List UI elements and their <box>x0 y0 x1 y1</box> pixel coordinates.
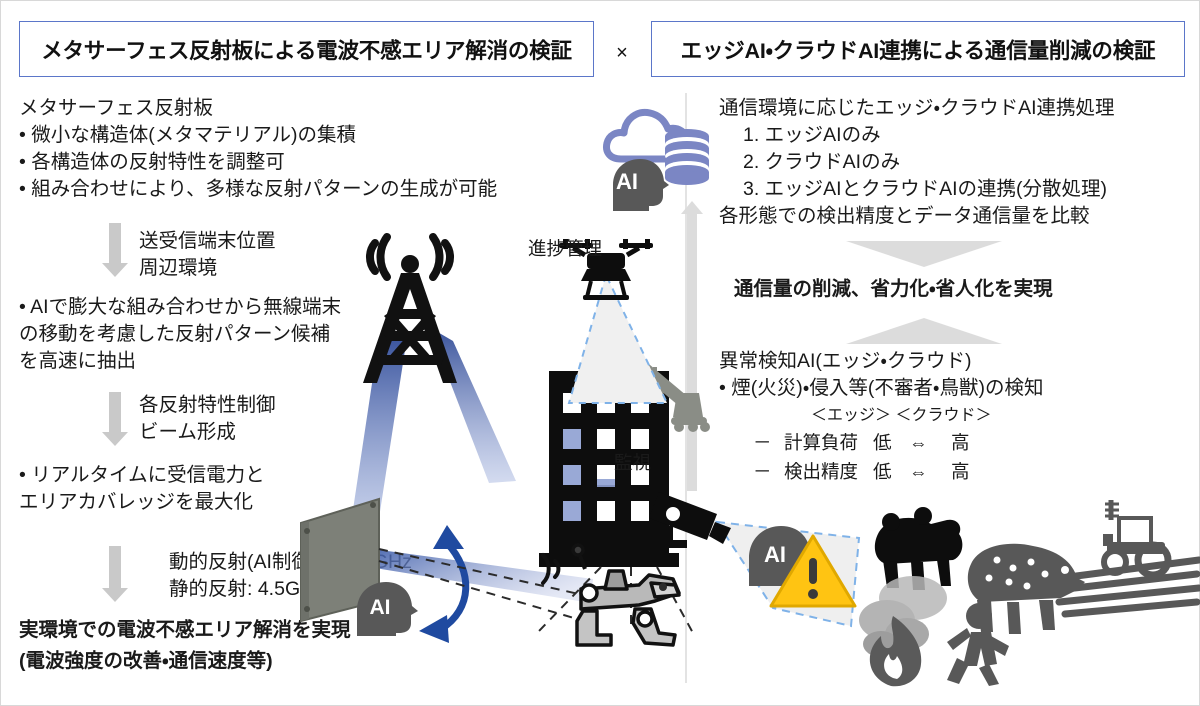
ai-head-label-monitor: AI <box>764 542 786 567</box>
right-detect-title: 異常検知AI(エッジ・クラウド) <box>719 349 972 375</box>
left-flow-arrow-3 <box>102 546 128 602</box>
right-flow-arrow-up <box>846 318 1002 344</box>
right-compare-row-0-edge: 低 <box>873 431 892 456</box>
right-compare-header: ＜エッジ＞ ＜クラウド＞ <box>811 405 991 426</box>
right-compare-row-1-arrow: ⇔ <box>909 460 928 485</box>
steering-arrowhead-up <box>433 525 464 549</box>
security-camera-icon <box>649 492 731 548</box>
diagram-canvas: メタサーフェス反射板による電波不感エリア解消の検証 × エッジAI・クラウドAI… <box>0 0 1200 706</box>
ai-head-icon-panel: AI <box>357 582 418 636</box>
left-step2-bullet-line2: エリアカバレッジを最大化 <box>19 490 253 516</box>
radio-tower-icon <box>363 237 457 383</box>
drone-scan-cone <box>569 275 667 403</box>
right-intro-title: 通信環境に応じたエッジ・クラウドAI連携処理 <box>719 96 1115 122</box>
left-step2-bullet-line1: • リアルタイムに受信電力と <box>19 463 265 489</box>
right-outcome: 通信量の削減、省力化・省人化を実現 <box>734 277 1053 303</box>
left-step2-label-line2: ビーム形成 <box>139 420 236 446</box>
header-box-right: エッジAI・クラウドAI連携による通信量削減の検証 <box>651 21 1185 77</box>
right-mode-3: 3. エッジAIとクラウドAIの連携(分散処理) <box>743 177 1107 203</box>
left-step1-bullet-line1: • AIで膨大な組み合わせから無線端末 <box>19 295 341 321</box>
left-step1-label-line1: 送受信端末位置 <box>139 229 276 255</box>
left-intro-bullet-2: • 各構造体の反射特性を調整可 <box>19 150 285 176</box>
left-flow-arrow-2 <box>102 392 128 446</box>
right-mode-2: 2. クラウドAIのみ <box>743 150 900 176</box>
header-box-left: メタサーフェス反射板による電波不感エリア解消の検証 <box>19 21 594 77</box>
right-flow-arrow-down <box>846 241 1002 267</box>
left-intro-title: メタサーフェス反射板 <box>19 96 213 122</box>
camera-label: 監視 <box>614 451 651 476</box>
left-step1-bullet-line3: を高速に抽出 <box>19 349 136 375</box>
right-compare-row-0-metric: 計算負荷 <box>784 431 858 456</box>
ai-head-label: AI <box>616 169 638 194</box>
right-compare-row-0-arrow: ⇔ <box>909 431 928 456</box>
left-intro-bullet-1: • 微小な構造体(メタマテリアル)の集積 <box>19 123 356 149</box>
left-flow-arrow-1 <box>102 223 128 277</box>
steering-arrowhead-down <box>419 615 449 643</box>
right-compare-row-1-dash: － <box>753 460 772 485</box>
field-rows-icon <box>1057 560 1199 614</box>
right-compare-row-0-dash: － <box>753 431 772 456</box>
right-mode-1: 1. エッジAIのみ <box>743 123 881 149</box>
cloud-ai-illustration: AI <box>599 93 719 211</box>
database-icon <box>665 129 709 185</box>
left-step1-bullet-line2: の移動を考慮した反射パターン候補 <box>19 322 330 348</box>
left-step1-label-line2: 周辺環境 <box>139 256 217 282</box>
left-conclusion-line2: (電波強度の改善・通信速度等) <box>19 649 273 675</box>
drone-label: 進捗管理 <box>528 237 602 262</box>
right-compare-row-1-metric: 検出精度 <box>784 460 858 485</box>
left-step2-label-line1: 各反射特性制御 <box>139 393 276 419</box>
ai-head-label-panel: AI <box>370 596 391 619</box>
right-compare-row-1-cloud: 高 <box>951 460 970 485</box>
right-detect-bullet: • 煙(火災)・侵入等(不審者・鳥獣)の検知 <box>719 376 1043 402</box>
left-intro-bullet-3: • 組み合わせにより、多様な反射パターンの生成が可能 <box>19 177 497 203</box>
ai-head-icon: AI <box>613 159 669 211</box>
right-compare-row-1-edge: 低 <box>873 460 892 485</box>
header-title-right: エッジAI・クラウドAI連携による通信量削減の検証 <box>681 34 1156 65</box>
right-compare-line: 各形態での検出精度とデータ通信量を比較 <box>719 204 1090 230</box>
right-compare-row-0-cloud: 高 <box>951 431 970 456</box>
header-multiply-symbol: × <box>606 41 638 65</box>
monitoring-scene: AI <box>641 486 1200 686</box>
person-walking-icon <box>947 603 1009 686</box>
header-title-left: メタサーフェス反射板による電波不感エリア解消の検証 <box>41 34 572 65</box>
